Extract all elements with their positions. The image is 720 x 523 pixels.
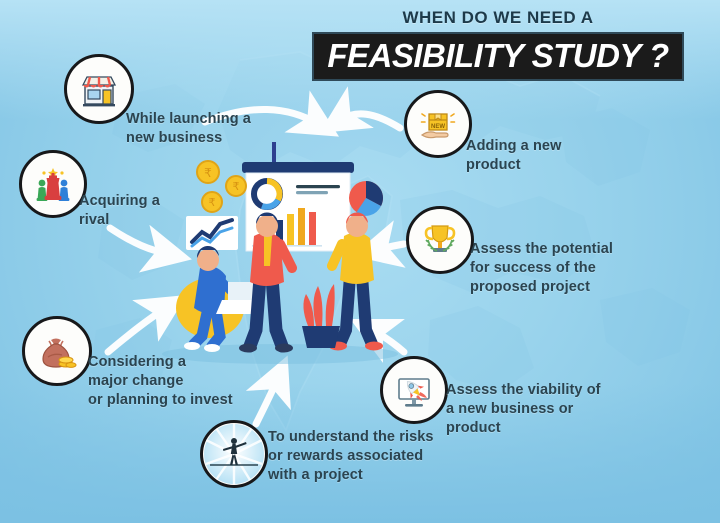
tightrope-walker-icon: [204, 424, 264, 484]
label-considering-major-change: Considering a major change or planning t…: [88, 353, 298, 410]
badge-chess-pieces[interactable]: [19, 150, 87, 218]
monitor-rocket-icon: [392, 368, 436, 412]
badge-money-bag[interactable]: [22, 316, 92, 386]
badge-trophy[interactable]: [406, 206, 474, 274]
title-kicker: WHEN DO WE NEED A: [312, 8, 684, 28]
badge-new-product[interactable]: NEW: [404, 90, 472, 158]
label-assess-potential-success: Assess the potential for success of the …: [470, 240, 680, 297]
infographic-canvas: WHEN DO WE NEED A FEASIBILITY STUDY ?: [0, 0, 720, 523]
label-acquiring-a-rival: Acquiring a rival: [79, 192, 229, 230]
svg-text:₹: ₹: [204, 166, 212, 180]
svg-text:₹: ₹: [233, 181, 240, 193]
chess-pieces-icon: [31, 162, 75, 206]
label-assess-viability: Assess the viability of a new business o…: [446, 381, 656, 438]
badge-storefront[interactable]: [64, 54, 134, 124]
pie-chart: [349, 181, 383, 216]
storefront-icon: [77, 67, 121, 111]
title-block: WHEN DO WE NEED A FEASIBILITY STUDY ?: [312, 8, 684, 81]
badge-monitor-rocket[interactable]: [380, 356, 448, 424]
badge-tightrope-walker[interactable]: [200, 420, 268, 488]
new-product-box-icon: NEW: [416, 102, 460, 146]
label-adding-new-product: Adding a new product: [466, 137, 646, 175]
svg-text:NEW: NEW: [431, 124, 445, 130]
title-banner: FEASIBILITY STUDY ?: [312, 32, 684, 81]
trophy-icon: [418, 218, 462, 262]
potted-plant: [302, 284, 340, 348]
money-bag-icon: [35, 329, 79, 373]
label-launching-new-business: While launching a new business: [126, 110, 316, 148]
central-illustration: ₹ ₹ ₹: [150, 140, 410, 370]
page-title: FEASIBILITY STUDY ?: [324, 39, 672, 72]
